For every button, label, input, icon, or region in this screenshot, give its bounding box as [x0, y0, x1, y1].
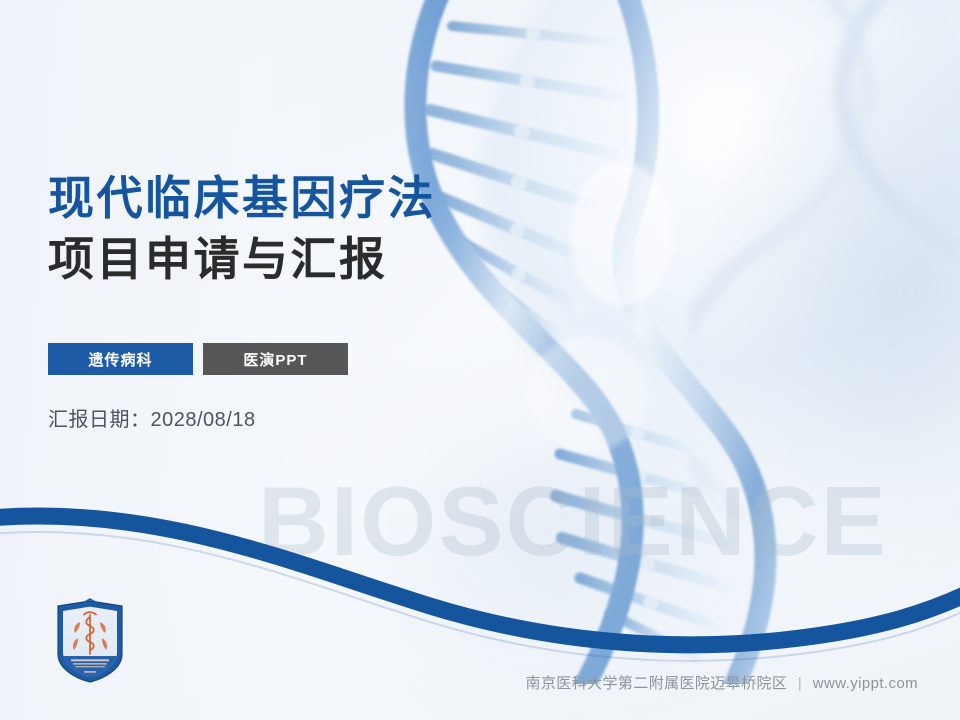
department-badge[interactable]: 遗传病科: [48, 343, 193, 375]
brand-badge[interactable]: 医演PPT: [203, 343, 348, 375]
footer-organization: 南京医科大学第二附属医院迈皋桥院区: [526, 675, 788, 692]
footer-separator: |: [798, 675, 802, 692]
page-title: 现代临床基因疗法 项目申请与汇报: [48, 168, 436, 289]
footer: 南京医科大学第二附属医院迈皋桥院区 | www.yippt.com: [0, 672, 918, 693]
title-line-secondary: 项目申请与汇报: [48, 229, 436, 290]
title-line-primary: 现代临床基因疗法: [48, 168, 436, 229]
presentation-title-slide: BIOSCIENCE 现代临床基因疗法 项目申请与汇报 遗传病科 医演PPT 汇…: [0, 0, 960, 720]
badge-group: 遗传病科 医演PPT: [48, 343, 348, 375]
report-date: 汇报日期：2028/08/18: [48, 403, 256, 432]
footer-website[interactable]: www.yippt.com: [813, 675, 918, 692]
